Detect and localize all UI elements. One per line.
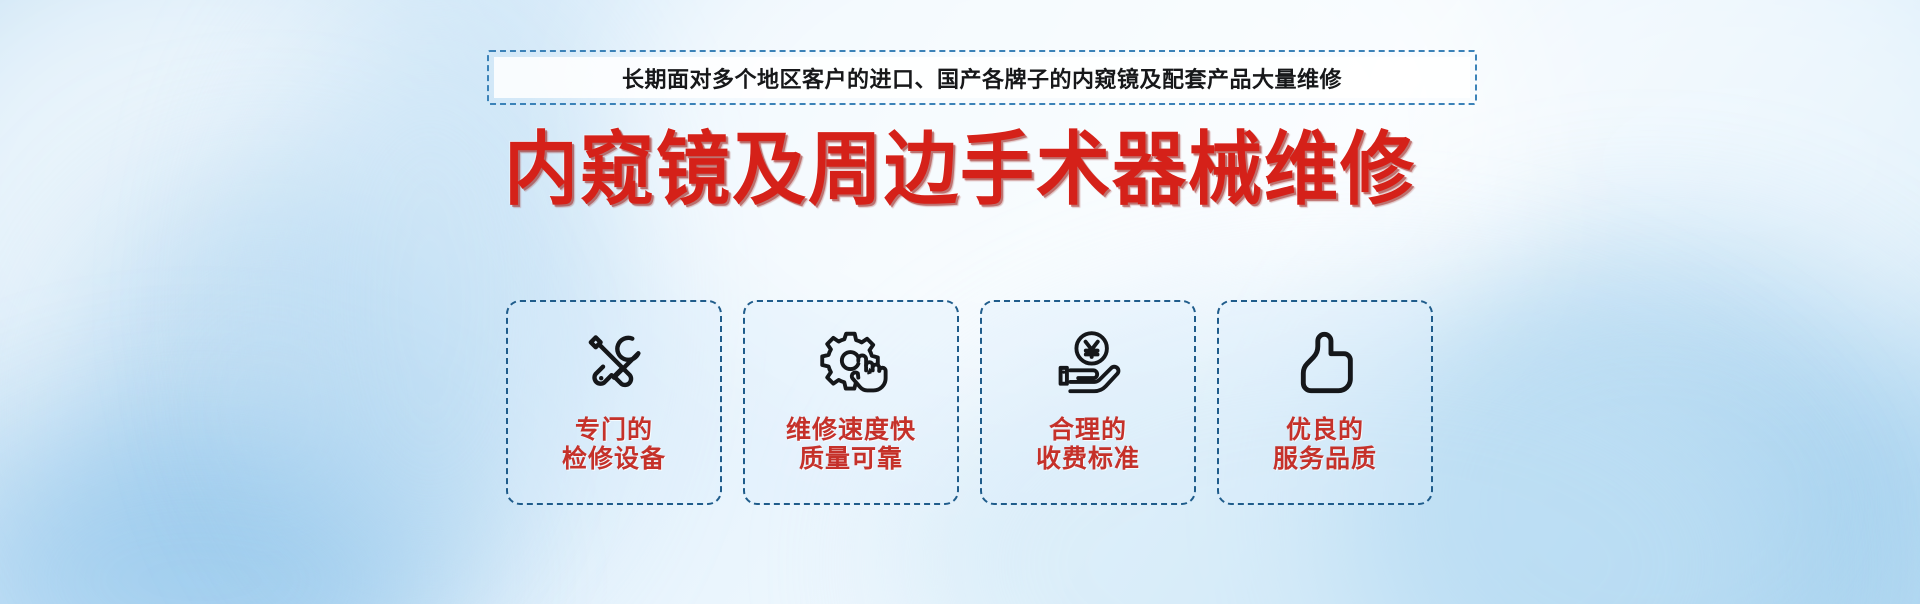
feature-card-service-quality: 优良的 服务品质 [1217,300,1433,505]
feature-card-label-line1: 专门的 [575,416,653,444]
feature-card-label-line1: 合理的 [1049,416,1127,444]
subheadline-text: 长期面对多个地区客户的进口、国产各牌子的内窥镜及配套产品大量维修 [622,62,1342,94]
feature-card-repair-speed: 维修速度快 质量可靠 [743,300,959,505]
feature-card-label-line1: 维修速度快 [786,416,916,444]
feature-card-pricing: 合理的 收费标准 [980,300,1196,505]
feature-card-label-line2: 服务品质 [1273,445,1377,474]
subheadline-panel: 长期面对多个地区客户的进口、国产各牌子的内窥镜及配套产品大量维修 [494,57,1470,98]
promo-banner: 长期面对多个地区客户的进口、国产各牌子的内窥镜及配套产品大量维修 内窥镜及周边手… [0,0,1920,604]
feature-card-label-line2: 质量可靠 [786,445,916,474]
feature-card-label: 合理的 收费标准 [1036,416,1140,474]
wrench-screwdriver-icon [575,324,653,402]
thumbs-up-icon [1286,324,1364,402]
subheadline-frame: 长期面对多个地区客户的进口、国产各牌子的内窥镜及配套产品大量维修 [487,50,1477,105]
page-title: 内窥镜及周边手术器械维修 [0,130,1920,210]
hand-yuan-coin-icon [1049,324,1127,402]
feature-card-label-line1: 优良的 [1286,416,1364,444]
feature-card-label: 专门的 检修设备 [562,416,666,474]
feature-card-label-line2: 检修设备 [562,445,666,474]
feature-card-label-line2: 收费标准 [1036,445,1140,474]
feature-card-label: 维修速度快 质量可靠 [786,416,916,474]
gear-click-icon [812,324,890,402]
feature-card-repair-equipment: 专门的 检修设备 [506,300,722,505]
feature-card-label: 优良的 服务品质 [1273,416,1377,474]
banner-content: 长期面对多个地区客户的进口、国产各牌子的内窥镜及配套产品大量维修 内窥镜及周边手… [0,0,1920,604]
feature-card-list: 专门的 检修设备 [506,300,1433,505]
